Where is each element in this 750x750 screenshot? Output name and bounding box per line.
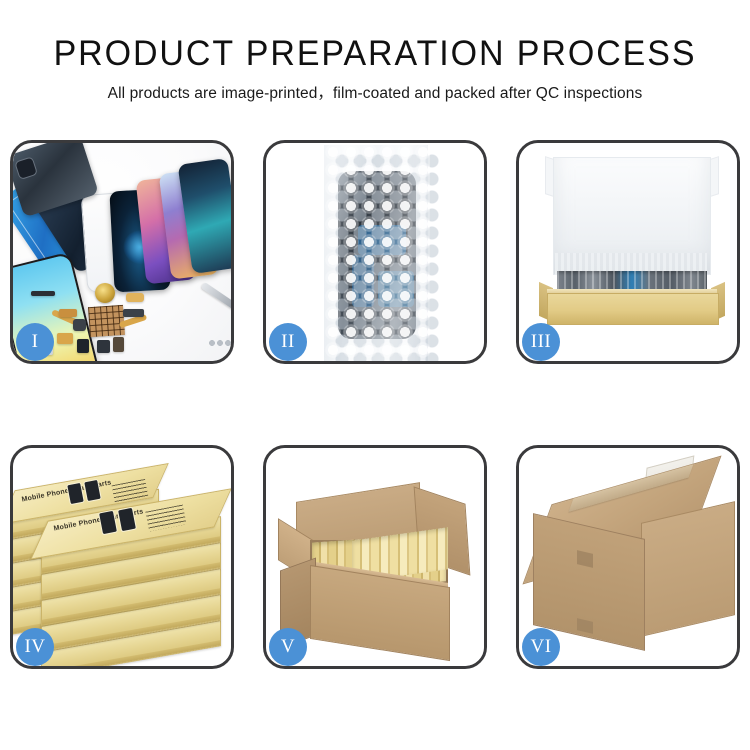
step-badge-1: I	[16, 323, 54, 361]
small-part	[73, 319, 86, 331]
step-badge-3: III	[522, 323, 560, 361]
step-badge-2: II	[269, 323, 307, 361]
small-part	[113, 337, 124, 352]
small-part	[57, 333, 73, 344]
small-part	[59, 309, 77, 317]
page-header: PRODUCT PREPARATION PROCESS All products…	[0, 0, 750, 105]
step-panel-3[interactable]: III	[516, 140, 740, 364]
copper-coil-part	[95, 283, 115, 303]
small-part	[126, 293, 144, 302]
step-badge-4: IV	[16, 628, 54, 666]
small-part	[31, 291, 55, 296]
step-panel-2[interactable]: II	[263, 140, 487, 364]
step-badge-6: VI	[522, 628, 560, 666]
step-badge-5: V	[269, 628, 307, 666]
small-part	[123, 309, 144, 317]
step-panel-5[interactable]: V	[263, 445, 487, 669]
process-steps-grid: I II III	[10, 140, 740, 670]
page-title: PRODUCT PREPARATION PROCESS	[11, 34, 739, 74]
step-panel-6[interactable]: VI	[516, 445, 740, 669]
carton-right-face	[641, 501, 735, 637]
step-panel-1[interactable]: I	[10, 140, 234, 364]
chip-array-part	[88, 305, 125, 337]
page-subtitle: All products are image-printed，film-coat…	[0, 83, 750, 105]
step-panel-4[interactable]: Mobile Phone Spare Parts Mobile Phone Sp…	[10, 445, 234, 669]
small-part	[97, 340, 110, 353]
small-part	[77, 339, 89, 353]
plastic-sheen	[324, 143, 430, 361]
kraft-box-front	[547, 293, 719, 325]
screws-group	[209, 339, 231, 347]
